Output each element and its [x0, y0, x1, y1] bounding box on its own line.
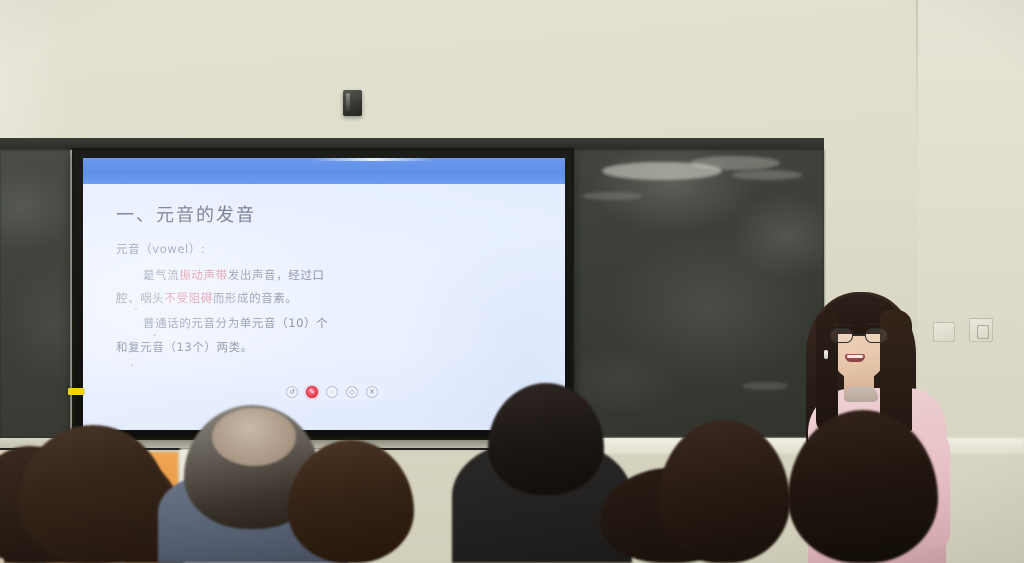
slide-header-band [83, 158, 565, 184]
earring-icon [824, 350, 828, 359]
undo-glyph: ↺ [287, 387, 297, 397]
slide-paragraph-2-line-1: 普通话的元音分为单元音（10）个 [143, 315, 328, 331]
shape-icon[interactable]: ◇ [346, 386, 358, 398]
glasses-lens-right [865, 328, 888, 343]
screen-speck [153, 334, 156, 336]
slide-paragraph-1-line-2: 腔、咽头不受阻碍而形成的音素。 [116, 290, 298, 306]
presentation-screen[interactable]: 一、元音的发音 元音（vowel）: 是气流振动声带发出声音，经过口 腔、咽头不… [83, 158, 565, 430]
pen-glyph: ✎ [307, 387, 317, 397]
chalk-smudge [732, 170, 802, 180]
text-run: 是气流 [143, 268, 179, 282]
screen-speck [145, 276, 148, 279]
eraser-icon[interactable]: ◌ [326, 386, 338, 398]
slide-title: 一、元音的发音 [116, 201, 256, 227]
blackboard-right-panel [572, 150, 824, 438]
screen-annotation-toolbar[interactable]: ↺ ✎ ◌ ◇ ✕ [281, 384, 383, 400]
text-run: 腔、咽头 [116, 291, 164, 305]
presenter-mouth [845, 354, 865, 362]
glasses-icon [830, 328, 888, 343]
chalk-smudge [742, 382, 788, 390]
highlight-run: 振动声带 [179, 268, 227, 282]
chalk-smudge [582, 192, 642, 200]
close-glyph: ✕ [367, 387, 377, 397]
text-run: 发出声音，经过口 [228, 268, 325, 282]
ceiling-sensor-icon [343, 90, 362, 116]
presenter-brow-left [833, 324, 851, 326]
glasses-lens-left [830, 328, 853, 343]
shape-glyph: ◇ [347, 387, 357, 397]
close-icon[interactable]: ✕ [366, 386, 378, 398]
pen-icon[interactable]: ✎ [306, 386, 318, 398]
presenter-brow-right [866, 323, 884, 325]
glasses-bridge [853, 334, 865, 336]
slide-paragraph-2-line-2: 和复元音（13个）两类。 [116, 339, 253, 355]
screen-speck [135, 308, 137, 310]
chalk-smudge [690, 156, 780, 170]
wall-outlet-plate[interactable] [969, 318, 993, 342]
screen-speck [131, 364, 133, 366]
wall-seam [916, 0, 918, 150]
text-run: 而形成的音素。 [213, 291, 298, 305]
highlight-run: 不受阻碍 [164, 291, 212, 305]
bezel-sticker [68, 388, 84, 395]
slide-subtitle: 元音（vowel）: [116, 241, 205, 257]
audience-member-scalp [212, 408, 296, 466]
classroom-photo-scene: 一、元音的发音 元音（vowel）: 是气流振动声带发出声音，经过口 腔、咽头不… [0, 0, 1024, 563]
screen-glint [313, 158, 433, 161]
slide-paragraph-1-line-1: 是气流振动声带发出声音，经过口 [143, 267, 325, 283]
blackboard-left-panel [0, 150, 72, 438]
wall-highlight [0, 0, 70, 150]
eraser-glyph: ◌ [327, 387, 337, 397]
presenter-collar [844, 386, 878, 402]
interactive-whiteboard[interactable]: 一、元音的发音 元音（vowel）: 是气流振动声带发出声音，经过口 腔、咽头不… [72, 148, 574, 440]
undo-icon[interactable]: ↺ [286, 386, 298, 398]
